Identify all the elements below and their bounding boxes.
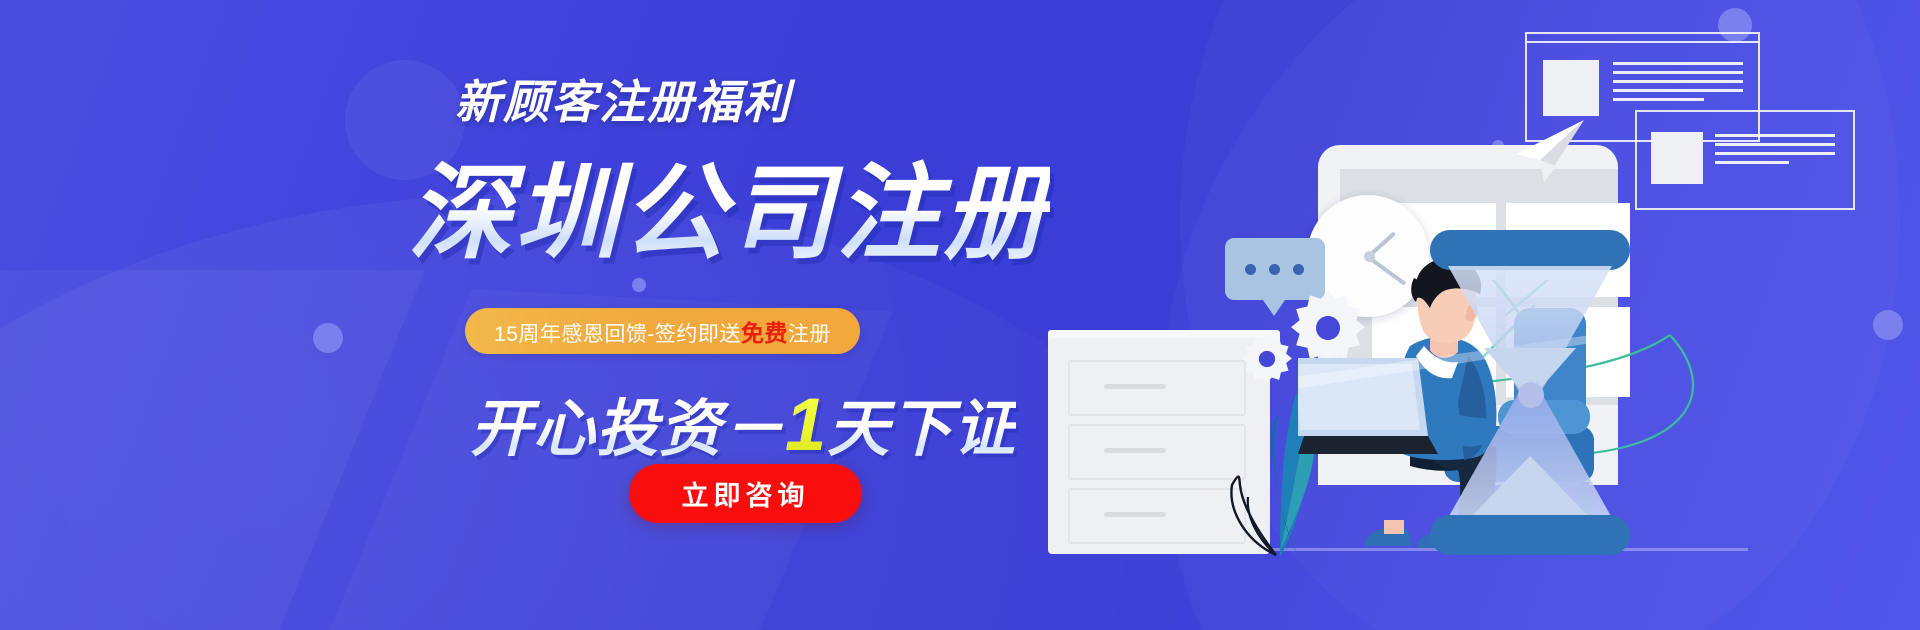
tagline-number: 1 xyxy=(785,383,827,466)
consult-now-button[interactable]: 立即咨询 xyxy=(629,464,862,523)
banner-tagline: 开心投资－1天下证 xyxy=(470,378,1016,468)
paper-plane-icon xyxy=(1510,118,1588,184)
promo-banner: 新顾客注册福利 深圳公司注册 15周年感恩回馈-签约即送免费注册 开心投资－1天… xyxy=(0,0,1920,630)
bubble-dot xyxy=(1269,264,1280,275)
banner-headline: 深圳公司注册 xyxy=(408,128,1050,279)
drawer-handle xyxy=(1104,448,1166,453)
banner-subtitle: 新顾客注册福利 xyxy=(455,66,791,132)
card-text-lines xyxy=(1715,134,1835,170)
bubble-dot xyxy=(1245,264,1256,275)
promo-suffix: 注册 xyxy=(788,323,831,346)
banner-copy: 新顾客注册福利 深圳公司注册 15周年感恩回馈-签约即送免费注册 开心投资－1天… xyxy=(0,0,1010,630)
card-text-lines xyxy=(1613,62,1743,107)
text-line xyxy=(1715,161,1789,164)
tagline-after: 天下证 xyxy=(827,395,1016,464)
text-line xyxy=(1715,143,1835,146)
tagline-before: 开心投资－ xyxy=(470,395,785,464)
promo-badge-text: 15周年感恩回馈-签约即送免费注册 xyxy=(494,314,831,348)
hero-illustration xyxy=(1060,0,1920,630)
card-thumbnail xyxy=(1543,60,1599,116)
card-title-bar xyxy=(1527,34,1758,43)
drawer-handle xyxy=(1104,512,1166,517)
text-line xyxy=(1613,98,1704,101)
hourglass-top-bar xyxy=(1430,230,1630,270)
text-line xyxy=(1715,134,1835,137)
hourglass-bottom-bar xyxy=(1430,515,1630,555)
text-line xyxy=(1715,152,1835,155)
text-line xyxy=(1613,80,1743,83)
text-line xyxy=(1613,89,1743,92)
drawer-handle xyxy=(1104,384,1166,389)
gear-small-icon xyxy=(1238,330,1296,388)
hourglass-neck xyxy=(1518,382,1544,408)
promo-badge: 15周年感恩回馈-签约即送免费注册 xyxy=(465,308,860,354)
text-line xyxy=(1613,62,1743,65)
hourglass-icon xyxy=(1430,230,1630,550)
text-line xyxy=(1613,71,1743,74)
document-card xyxy=(1635,110,1855,210)
promo-highlight: 免费 xyxy=(741,320,788,346)
promo-prefix: 15周年感恩回馈-签约即送 xyxy=(494,323,741,346)
consult-now-button-label: 立即咨询 xyxy=(682,474,810,513)
card-thumbnail xyxy=(1651,132,1703,184)
